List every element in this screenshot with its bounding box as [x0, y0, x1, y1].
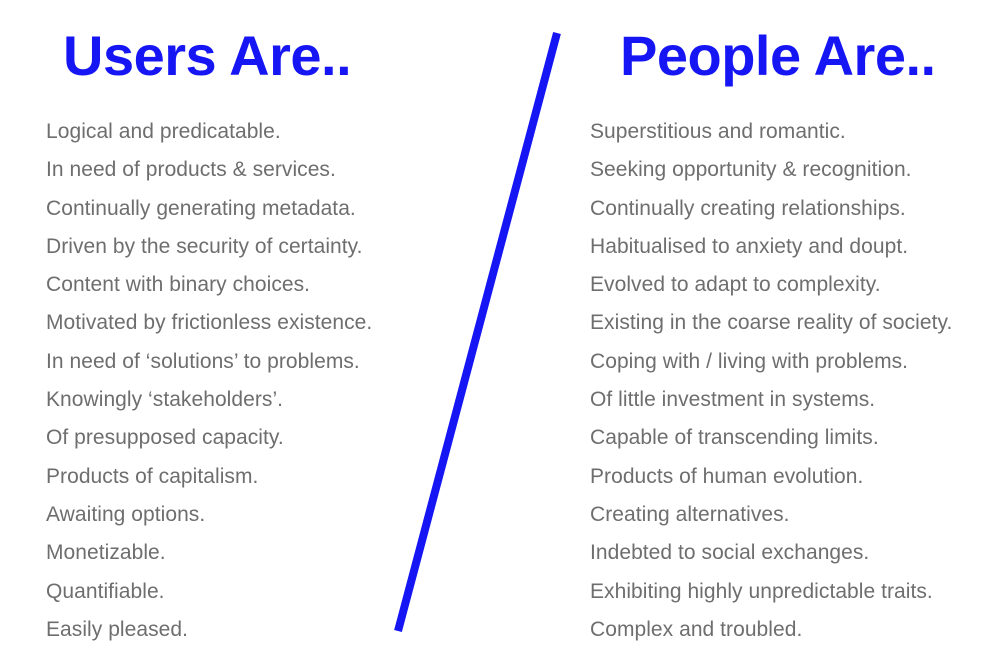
- list-item: Logical and predicatable.: [46, 113, 372, 151]
- people-column-title: People Are..: [620, 28, 936, 84]
- list-item: Continually creating relationships.: [590, 190, 952, 228]
- people-column: People Are.. Superstitious and romantic.…: [575, 0, 1000, 650]
- list-item: Knowingly ‘stakeholders’.: [46, 381, 372, 419]
- list-item: Motivated by frictionless existence.: [46, 304, 372, 342]
- list-item: Quantifiable.: [46, 573, 372, 611]
- list-item: Existing in the coarse reality of societ…: [590, 304, 952, 342]
- list-item: Capable of transcending limits.: [590, 419, 952, 457]
- list-item: Evolved to adapt to complexity.: [590, 266, 952, 304]
- users-trait-list: Logical and predicatable. In need of pro…: [46, 113, 372, 649]
- list-item: Awaiting options.: [46, 496, 372, 534]
- list-item: Products of human evolution.: [590, 458, 952, 496]
- list-item: Continually generating metadata.: [46, 190, 372, 228]
- list-item: Exhibiting highly unpredictable traits.: [590, 573, 952, 611]
- list-item: Habitualised to anxiety and doupt.: [590, 228, 952, 266]
- list-item: Complex and troubled.: [590, 611, 952, 649]
- list-item: Creating alternatives.: [590, 496, 952, 534]
- list-item: In need of products & services.: [46, 151, 372, 189]
- people-trait-list: Superstitious and romantic. Seeking oppo…: [590, 113, 952, 649]
- list-item: Content with binary choices.: [46, 266, 372, 304]
- list-item: Monetizable.: [46, 534, 372, 572]
- list-item: Seeking opportunity & recognition.: [590, 151, 952, 189]
- list-item: Of presupposed capacity.: [46, 419, 372, 457]
- list-item: Indebted to social exchanges.: [590, 534, 952, 572]
- users-column-title: Users Are..: [63, 28, 351, 84]
- users-column: Users Are.. Logical and predicatable. In…: [0, 0, 520, 650]
- list-item: Coping with / living with problems.: [590, 343, 952, 381]
- list-item: Of little investment in systems.: [590, 381, 952, 419]
- list-item: Driven by the security of certainty.: [46, 228, 372, 266]
- list-item: Superstitious and romantic.: [590, 113, 952, 151]
- list-item: Products of capitalism.: [46, 458, 372, 496]
- list-item: Easily pleased.: [46, 611, 372, 649]
- comparison-slide: Users Are.. Logical and predicatable. In…: [0, 0, 1000, 650]
- list-item: In need of ‘solutions’ to problems.: [46, 343, 372, 381]
